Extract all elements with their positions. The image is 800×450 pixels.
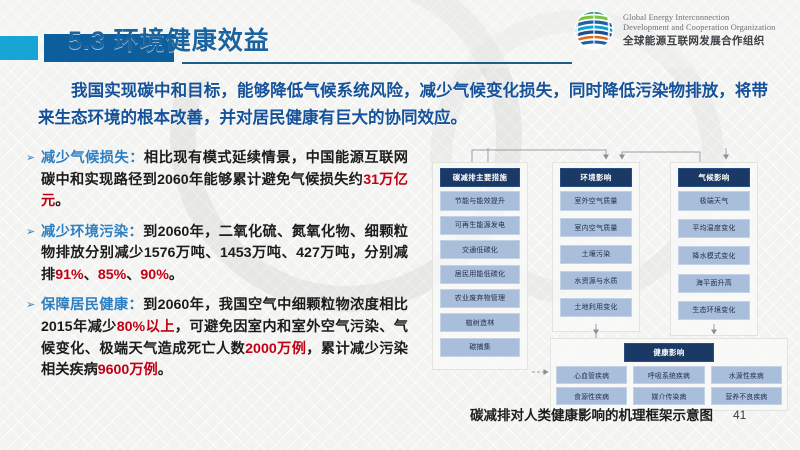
highlighted-figure: 9600万例 bbox=[98, 362, 158, 378]
diagram-node-health: 水源性疾病 bbox=[711, 366, 782, 384]
diagram-node-measure: 节能与能效提升 bbox=[440, 191, 520, 210]
bullet-text: 减少环境污染：到2060年，二氧化硫、氮氧化物、细颗粒物排放分别减少1576万吨… bbox=[41, 222, 408, 287]
diagram-node-health: 媒介传染病 bbox=[633, 387, 704, 405]
figure-caption: 碳减排对人类健康影响的机理框架示意图 bbox=[470, 404, 713, 424]
organization-logo: Global Energy Interconnection Developmen… bbox=[572, 8, 775, 52]
column-nodes-climate: 极端天气平均温度变化降水模式变化海平面升高生态环境变化 bbox=[678, 191, 750, 320]
bullet-list: ➢减少气候损失：相比现有模式延续情景，中国能源互联网碳中和实现路径到2060年能… bbox=[26, 148, 408, 391]
page-title: 5.3 环境健康效益 bbox=[68, 21, 270, 57]
bullet-text-run: 。 bbox=[169, 267, 183, 283]
highlighted-figure: 90% bbox=[140, 267, 168, 283]
bullet-text-run: 、 bbox=[126, 267, 140, 283]
bullet-item: ➢保障居民健康：到2060年，我国空气中细颗粒物浓度相比2015年减少80%以上… bbox=[26, 295, 408, 381]
diagram-node-measure: 居民用能低碳化 bbox=[440, 265, 520, 284]
health-box-header: 健康影响 bbox=[624, 343, 714, 362]
column-header-environment: 环境影响 bbox=[560, 168, 632, 187]
diagram-column-measures: 碳减排主要措施 节能与能效提升可再生能源发电交通低碳化居民用能低碳化农业废弃物管… bbox=[432, 162, 528, 370]
diagram-node-measure: 可再生能源发电 bbox=[440, 216, 520, 235]
diagram-node-environment: 室外空气质量 bbox=[560, 191, 632, 210]
bullet-item: ➢减少环境污染：到2060年，二氧化硫、氮氧化物、细颗粒物排放分别减少1576万… bbox=[26, 222, 408, 287]
bullet-arrow-icon: ➢ bbox=[26, 222, 41, 287]
org-name-en-line1: Global Energy Interconnection bbox=[623, 13, 775, 23]
title-tag-cyan bbox=[0, 36, 38, 60]
column-nodes-measures: 节能与能效提升可再生能源发电交通低碳化居民用能低碳化农业废弃物管理植树造林碳捕集 bbox=[440, 191, 520, 356]
mechanism-framework-diagram: 碳减排主要措施 节能与能效提升可再生能源发电交通低碳化居民用能低碳化农业废弃物管… bbox=[410, 148, 796, 398]
org-name-cn: 全球能源互联网发展合作组织 bbox=[623, 35, 775, 47]
health-node-grid: 心血管疾病呼吸系统疾病水源性疾病食源性疾病媒介传染病营养不良疾病 bbox=[556, 366, 782, 405]
diagram-column-climate: 气候影响 极端天气平均温度变化降水模式变化海平面升高生态环境变化 bbox=[670, 162, 758, 336]
bullet-item: ➢减少气候损失：相比现有模式延续情景，中国能源互联网碳中和实现路径到2060年能… bbox=[26, 148, 408, 213]
diagram-node-measure: 农业废弃物管理 bbox=[440, 289, 520, 308]
slide-canvas: 5.3 环境健康效益 bbox=[0, 0, 800, 450]
bullet-lead-label: 减少气候损失： bbox=[41, 150, 144, 166]
diagram-node-health: 呼吸系统疾病 bbox=[633, 366, 704, 384]
diagram-column-environment: 环境影响 室外空气质量室内空气质量土壤污染水资源与水质土地利用变化 bbox=[552, 162, 640, 332]
diagram-node-climate: 平均温度变化 bbox=[678, 219, 750, 238]
bullet-lead-label: 减少环境污染： bbox=[41, 224, 143, 240]
column-header-climate: 气候影响 bbox=[678, 168, 750, 187]
bullet-text: 保障居民健康：到2060年，我国空气中细颗粒物浓度相比2015年减少80%以上，… bbox=[41, 295, 408, 381]
bullet-lead-label: 保障居民健康： bbox=[41, 297, 143, 313]
bullet-text: 减少气候损失：相比现有模式延续情景，中国能源互联网碳中和实现路径到2060年能够… bbox=[41, 148, 408, 213]
diagram-node-environment: 土地利用变化 bbox=[560, 298, 632, 317]
highlighted-figure: 91% bbox=[55, 267, 83, 283]
diagram-node-climate: 极端天气 bbox=[678, 191, 750, 210]
diagram-node-health: 心血管疾病 bbox=[556, 366, 627, 384]
diagram-health-box: 健康影响 心血管疾病呼吸系统疾病水源性疾病食源性疾病媒介传染病营养不良疾病 bbox=[550, 338, 788, 411]
diagram-node-measure: 植树造林 bbox=[440, 313, 520, 332]
diagram-node-climate: 海平面升高 bbox=[678, 274, 750, 293]
diagram-node-environment: 水资源与水质 bbox=[560, 271, 632, 290]
diagram-node-environment: 室内空气质量 bbox=[560, 218, 632, 237]
diagram-node-measure: 碳捕集 bbox=[440, 338, 520, 357]
diagram-node-environment: 土壤污染 bbox=[560, 245, 632, 264]
bullet-text-run: 。 bbox=[158, 362, 172, 378]
diagram-node-health: 食源性疾病 bbox=[556, 387, 627, 405]
highlighted-figure: 85% bbox=[98, 267, 126, 283]
bullet-arrow-icon: ➢ bbox=[26, 295, 41, 381]
org-name-en-line2: Development and Cooperation Organization bbox=[623, 23, 775, 33]
column-header-measures: 碳减排主要措施 bbox=[440, 168, 520, 187]
diagram-node-climate: 降水模式变化 bbox=[678, 246, 750, 265]
column-nodes-environment: 室外空气质量室内空气质量土壤污染水资源与水质土地利用变化 bbox=[560, 191, 632, 317]
highlighted-figure: 2000万例 bbox=[245, 341, 306, 357]
intro-paragraph: 我国实现碳中和目标，能够降低气候系统风险，减少气候变化损失，同时降低污染物排放，… bbox=[38, 78, 768, 131]
title-divider bbox=[182, 62, 572, 64]
diagram-node-measure: 交通低碳化 bbox=[440, 240, 520, 259]
bullet-text-run: 、 bbox=[84, 267, 98, 283]
diagram-node-climate: 生态环境变化 bbox=[678, 301, 750, 320]
globe-icon bbox=[572, 8, 616, 52]
organization-name: Global Energy Interconnection Developmen… bbox=[623, 13, 775, 47]
highlighted-figure: 80%以上 bbox=[117, 319, 175, 335]
bullet-text-run: 。 bbox=[55, 193, 69, 209]
diagram-node-health: 营养不良疾病 bbox=[711, 387, 782, 405]
bullet-arrow-icon: ➢ bbox=[26, 148, 41, 213]
page-number: 41 bbox=[733, 408, 746, 422]
